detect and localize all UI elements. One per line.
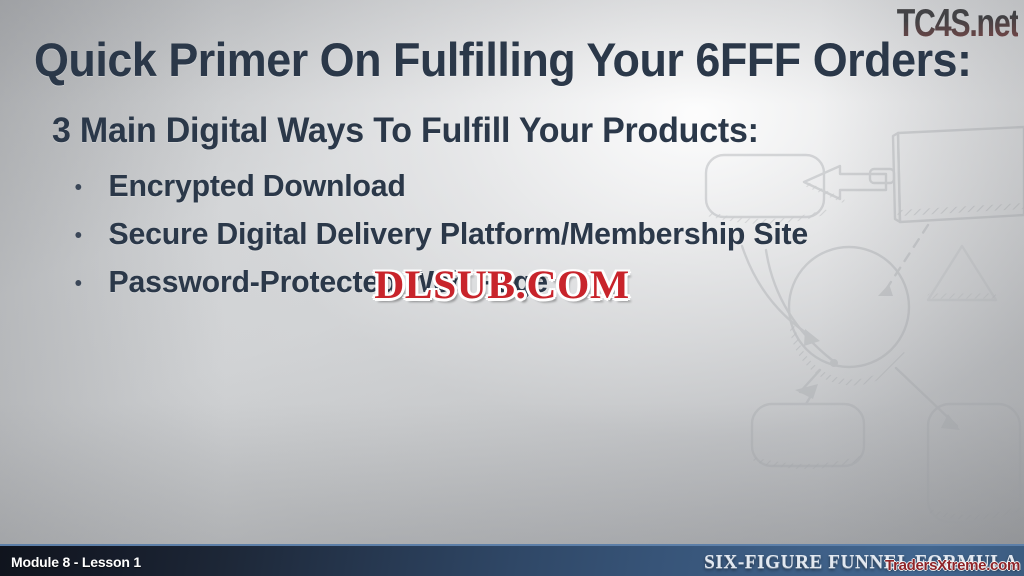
bullet-dot-icon <box>75 184 81 190</box>
list-item: Encrypted Download <box>52 162 969 210</box>
watermark-tradersxtreme: TradersXtreme.com <box>885 557 1020 574</box>
bullet-dot-icon <box>75 232 81 238</box>
module-lesson-label: Module 8 - Lesson 1 <box>11 553 141 571</box>
subheading: 3 Main Digital Ways To Fulfill Your Prod… <box>52 108 964 154</box>
watermark-tc4s: TC4S.net <box>896 2 1018 44</box>
list-item-label: Secure Digital Delivery Platform/Members… <box>109 216 808 251</box>
footer-bar: Module 8 - Lesson 1 SIX-FIGURE FUNNEL FO… <box>0 544 1024 576</box>
list-item: Secure Digital Delivery Platform/Members… <box>52 210 969 258</box>
list-item-label: Encrypted Download <box>109 168 406 203</box>
watermark-dlsub: DLSUB.COM <box>368 262 636 310</box>
page-title: Quick Primer On Fulfilling Your 6FFF Ord… <box>34 33 951 87</box>
bullet-dot-icon <box>75 280 81 286</box>
slide-canvas: Quick Primer On Fulfilling Your 6FFF Ord… <box>0 0 1024 576</box>
